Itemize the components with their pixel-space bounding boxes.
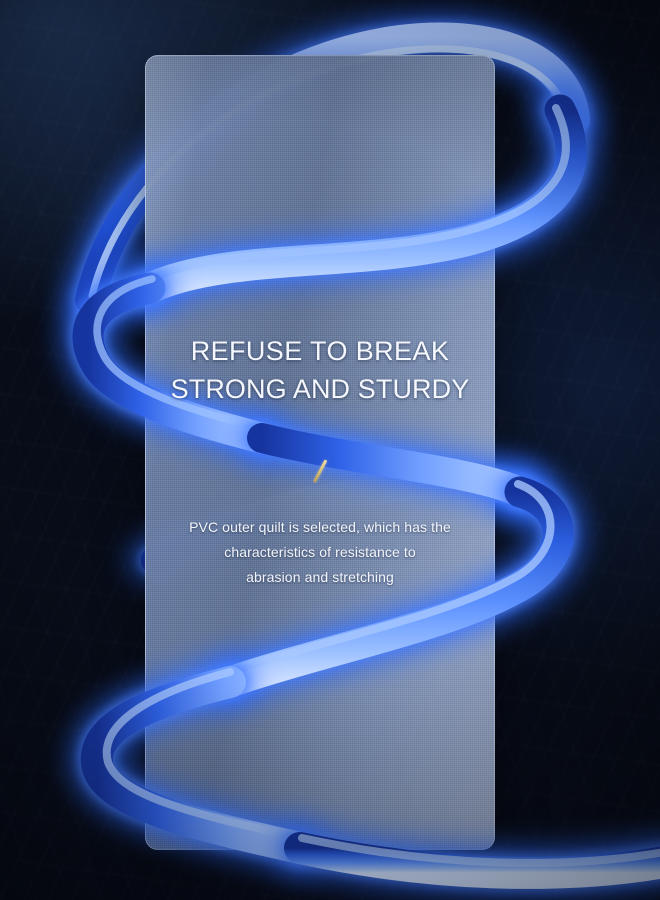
vignette-overlay [0, 0, 660, 900]
banner-stage: REFUSE TO BREAK STRONG AND STURDY PVC ou… [0, 0, 660, 900]
